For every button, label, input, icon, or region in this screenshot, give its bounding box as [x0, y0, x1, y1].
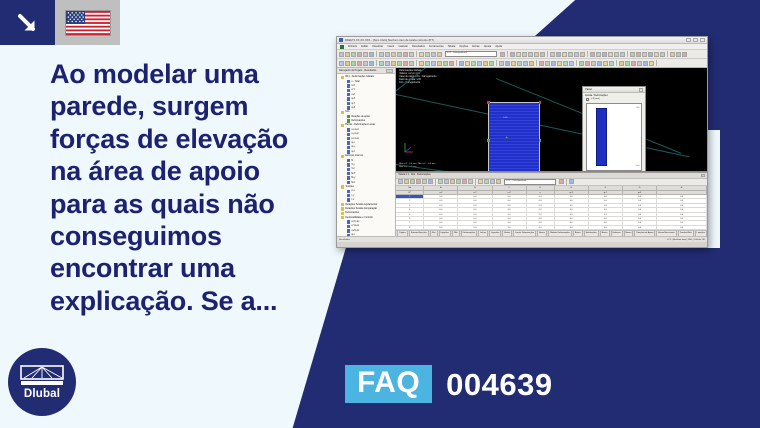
toolbar-button[interactable]	[590, 52, 595, 57]
menu-item-calcular[interactable]: Calcular	[398, 45, 408, 48]
toolbar-separator	[566, 179, 567, 185]
table-cell[interactable]: 0.0	[623, 213, 657, 216]
table-cell[interactable]: 4	[396, 208, 424, 211]
toolbar-button[interactable]	[563, 61, 568, 66]
toolbar-button[interactable]	[580, 52, 585, 57]
toolbar-button[interactable]	[419, 61, 424, 66]
table-tab[interactable]: Dígitos	[397, 230, 407, 236]
menu-item-tabela[interactable]: Tabela	[448, 45, 456, 48]
toolbar-button[interactable]	[416, 179, 421, 184]
menu-logo-icon	[340, 45, 344, 49]
toolbar-button[interactable]	[468, 179, 473, 184]
toolbar-button[interactable]	[556, 52, 561, 57]
navigator-tree-item-label: Relações Tensão-Comparação	[345, 208, 377, 210]
toolbar-button[interactable]	[385, 61, 390, 66]
toolbar-button[interactable]	[428, 179, 433, 184]
table-cell[interactable]: 0.0	[424, 226, 458, 229]
table-cell[interactable]: 0.0	[458, 199, 492, 202]
toolbar-button[interactable]	[489, 61, 494, 66]
navigator-tree-item-label: Deformações	[345, 212, 359, 214]
toolbar-button[interactable]	[579, 61, 584, 66]
table-cell[interactable]: 0.0	[589, 213, 623, 216]
toolbar-button[interactable]	[345, 52, 350, 57]
toolbar-button[interactable]	[419, 52, 424, 57]
menu-item-resultados[interactable]: Resultados	[412, 45, 425, 48]
menu-item-extras[interactable]: Extras	[472, 45, 479, 48]
node-icon	[347, 119, 350, 122]
toolbar-button[interactable]	[529, 61, 534, 66]
toolbar-button[interactable]	[444, 179, 449, 184]
toolbar-button[interactable]	[409, 61, 414, 66]
table-cell[interactable]: 0.0	[589, 221, 623, 224]
toolbar-button[interactable]	[397, 52, 402, 57]
toolbar-button[interactable]	[539, 61, 544, 66]
toolbar-button[interactable]	[620, 52, 625, 57]
project-navigator[interactable]: Navegador do Projeto - Resultados RF1 - …	[337, 68, 396, 236]
toolbar-button[interactable]	[369, 61, 374, 66]
toolbar-separator	[536, 60, 537, 66]
navigator-tree-item-label: u-Z	[351, 94, 354, 96]
table-tab[interactable]: Sistema/Secções	[409, 230, 429, 236]
table-cell[interactable]: 0.0	[424, 204, 458, 207]
table-tab[interactable]: Nós	[452, 230, 460, 236]
table-cell[interactable]: 0.0	[424, 199, 458, 202]
toolbar-button[interactable]	[676, 52, 681, 57]
table-tab[interactable]: Bases	[600, 230, 610, 236]
toolbar-button[interactable]	[403, 61, 408, 66]
menu-item-editar[interactable]: Editar	[361, 45, 368, 48]
table-cell[interactable]: 0.0	[458, 213, 492, 216]
toolbar-button[interactable]	[596, 52, 601, 57]
toolbar-load-case-combo[interactable]: LC1 - Carregamento	[445, 51, 497, 57]
menu-item-ferramentas[interactable]: Ferramentas	[429, 45, 444, 48]
result-icon	[347, 93, 350, 96]
navigator-tree-item-label: V-z	[351, 168, 354, 170]
table-tab[interactable]: Globais Deformações	[548, 230, 572, 236]
table-cell[interactable]: 0.0	[493, 195, 527, 198]
table-tab[interactable]: Bases	[537, 230, 547, 236]
table-cell[interactable]: 0.0	[657, 213, 707, 216]
table-subheader-cell: u-Y	[458, 191, 492, 195]
toolbar-button[interactable]	[523, 61, 528, 66]
table-cell[interactable]: 0.0	[527, 204, 555, 207]
folder-icon	[341, 76, 344, 79]
toolbar-button[interactable]	[437, 61, 442, 66]
table-cell[interactable]: 0.0	[458, 221, 492, 224]
table-cell[interactable]: 0.0	[458, 217, 492, 220]
toolbar-button[interactable]	[449, 61, 454, 66]
table-column-header[interactable]: E	[555, 186, 589, 190]
toolbar-button[interactable]	[516, 52, 521, 57]
table-column-header[interactable]: Nó	[396, 186, 424, 190]
table-cell[interactable]: 0.0	[589, 226, 623, 229]
toolbar-button[interactable]	[609, 61, 614, 66]
toolbar-button[interactable]	[403, 52, 408, 57]
results-table-pane[interactable]: Tabela 4.1 - Nós - Deformações LC1 - Car…	[396, 172, 707, 236]
toolbar-button[interactable]	[648, 52, 653, 57]
us-flag-icon[interactable]	[55, 0, 120, 45]
table-cell[interactable]: 8	[396, 226, 424, 229]
navigator-tree-item-label: Barras - Deformações Locais	[345, 124, 375, 126]
model-viewport[interactable]: Deformações Globais Valores: u-Z em mm C…	[396, 68, 707, 172]
dlubal-frame-icon	[20, 365, 64, 387]
toolbar-button[interactable]	[562, 52, 567, 57]
table-cell[interactable]: 0.0	[458, 208, 492, 211]
main-toolbar[interactable]: LC1 - Carregamento	[337, 50, 707, 59]
toolbar-button[interactable]	[642, 52, 647, 57]
navigator-tree-item-label: u-X,Loc	[351, 221, 359, 223]
toolbar-load-case-combo[interactable]: LC1 - Carregamento	[504, 179, 556, 185]
surface-label: 0.00	[503, 117, 507, 119]
table-cell[interactable]: 0.0	[657, 199, 707, 202]
table-column-header[interactable]: C	[493, 186, 527, 190]
table-tab[interactable]: Ligações	[695, 230, 707, 236]
table-cell[interactable]: 0.0	[623, 204, 657, 207]
navigator-tree-item-label: u-Y	[351, 89, 355, 91]
table-cell[interactable]: 0.0	[555, 204, 589, 207]
toolbar-button[interactable]	[438, 179, 443, 184]
toolbar-separator	[416, 60, 417, 66]
toolbar-button[interactable]	[385, 52, 390, 57]
toolbar-button[interactable]	[574, 52, 579, 57]
table-cell[interactable]: 0.0	[555, 199, 589, 202]
table-cell[interactable]: 0.0	[623, 199, 657, 202]
table-cell[interactable]: 0.0	[493, 208, 527, 211]
table-column-header[interactable]: H	[657, 186, 707, 190]
toolbar-button[interactable]	[379, 52, 384, 57]
table-cell[interactable]: 0.0	[589, 204, 623, 207]
toolbar-button[interactable]	[425, 52, 430, 57]
wall-surface-mesh: 1 0.00	[488, 102, 540, 172]
checkbox-icon[interactable]	[586, 98, 589, 101]
table-cell[interactable]: 0.0	[589, 195, 623, 198]
table-cell[interactable]: 0.0	[623, 221, 657, 224]
table-cell[interactable]: 0.0	[493, 217, 527, 220]
toolbar-button[interactable]	[409, 52, 414, 57]
folder-icon	[341, 207, 344, 210]
table-cell[interactable]: 0.0	[458, 204, 492, 207]
toolbar-button[interactable]	[490, 179, 495, 184]
table-tab[interactable]: Bases	[573, 230, 583, 236]
toolbar-button[interactable]	[391, 52, 396, 57]
table-cell[interactable]: 5	[396, 213, 424, 216]
toolbar-button[interactable]	[511, 61, 516, 66]
top-icon-bar	[0, 0, 120, 45]
toolbar-button[interactable]	[630, 52, 635, 57]
toolbar-button[interactable]	[602, 52, 607, 57]
toolbar-button[interactable]	[569, 179, 574, 184]
toolbar-button[interactable]	[345, 61, 350, 66]
table-cell[interactable]: 0.0	[589, 208, 623, 211]
toolbar-button[interactable]	[431, 52, 436, 57]
app-title-bar: RFEM 5.XX.XX.XXX - [Sem título] Nenhum i…	[337, 37, 707, 44]
toolbar-button[interactable]	[522, 52, 527, 57]
table-tab[interactable]: Solicitações	[584, 230, 599, 236]
toolbar-button[interactable]	[637, 61, 642, 66]
navigator-title: Navegador do Projeto - Resultados	[337, 68, 395, 74]
table-cell[interactable]: 0.0	[493, 204, 527, 207]
table-tab[interactable]: Ligações	[439, 230, 451, 236]
table-column-header[interactable]: F	[589, 186, 623, 190]
close-button[interactable]	[700, 38, 705, 42]
table-subheader-cell: u	[527, 191, 555, 195]
toolbar-button[interactable]	[465, 61, 470, 66]
toolbar-button[interactable]	[569, 61, 574, 66]
toolbar-button[interactable]	[462, 179, 467, 184]
toolbar-button[interactable]	[484, 179, 489, 184]
toolbar-button[interactable]	[682, 52, 687, 57]
table-toolbar[interactable]: LC1 - Carregamento	[396, 179, 707, 187]
toolbar-button[interactable]	[528, 52, 533, 57]
table-column-header[interactable]: D	[527, 186, 555, 190]
toolbar-button[interactable]	[550, 52, 555, 57]
toolbar-button[interactable]	[670, 52, 675, 57]
table-cell[interactable]: 0.0	[424, 195, 458, 198]
toolbar-button[interactable]	[363, 61, 368, 66]
table-tab[interactable]: Bases	[502, 230, 512, 236]
table-cell[interactable]: 0.0	[424, 213, 458, 216]
toolbar-button[interactable]	[483, 61, 488, 66]
toolbar-button[interactable]	[636, 52, 641, 57]
toolbar-button[interactable]	[608, 52, 613, 57]
table-cell[interactable]: 0.0	[657, 208, 707, 211]
dialog-close-icon[interactable]	[639, 88, 643, 91]
toolbar-button[interactable]	[351, 52, 356, 57]
toolbar-button[interactable]	[351, 61, 356, 66]
toolbar-button[interactable]	[614, 52, 619, 57]
toolbar-button[interactable]	[619, 61, 624, 66]
minimize-button[interactable]	[686, 38, 691, 42]
toolbar-button[interactable]	[379, 61, 384, 66]
table-tab[interactable]: Nós	[430, 230, 438, 236]
toolbar-button[interactable]	[431, 61, 436, 66]
folder-icon	[341, 203, 344, 206]
table-cell[interactable]: 1	[396, 195, 424, 198]
navigator-tree-item-label: τ-z	[351, 199, 354, 201]
result-icon	[347, 137, 350, 140]
table-cell[interactable]: 0.0	[424, 221, 458, 224]
node-icon	[347, 115, 350, 118]
table-cell[interactable]: 0.0	[493, 226, 527, 229]
toolbar-button[interactable]	[654, 52, 659, 57]
scale-max-label: 0.0	[636, 107, 639, 109]
toolbar-button[interactable]	[443, 61, 448, 66]
toolbar-button[interactable]	[477, 61, 482, 66]
table-cell[interactable]: 0.0	[458, 226, 492, 229]
table-cell[interactable]: 0.0	[623, 195, 657, 198]
dlubal-logo[interactable]: Dlubal	[8, 348, 76, 416]
toolbar-button[interactable]	[437, 52, 442, 57]
toolbar-button[interactable]	[357, 52, 362, 57]
arrow-down-right-icon[interactable]	[0, 0, 55, 45]
table-tab[interactable]: Linhas	[478, 230, 488, 236]
toolbar-button[interactable]	[557, 61, 562, 66]
menu-item-visualizar[interactable]: Visualizar	[372, 45, 383, 48]
toolbar-button[interactable]	[404, 179, 409, 184]
toolbar-button[interactable]	[649, 61, 654, 66]
toolbar-button[interactable]	[591, 61, 596, 66]
toolbar-separator	[456, 60, 457, 66]
toolbar-button[interactable]	[559, 179, 564, 184]
toolbar-button[interactable]	[500, 52, 505, 57]
menu-item-ficheiro[interactable]: Ficheiro	[348, 45, 357, 48]
table-cell[interactable]: 0.0	[527, 226, 555, 229]
results-panel-dialog[interactable]: Painel Escala / Deformações u-Z [mm] 0.0…	[582, 86, 646, 172]
menu-item-janela[interactable]: Janela	[484, 45, 492, 48]
table-tab[interactable]: Reações de Apoio	[634, 230, 655, 236]
toolbar-separator	[656, 60, 657, 66]
toolbar-button[interactable]	[422, 179, 427, 184]
table-cell[interactable]: 3	[396, 204, 424, 207]
result-icon	[347, 84, 350, 87]
table-tab[interactable]: Ligações	[489, 230, 501, 236]
table-tab[interactable]: Tensões/Nós	[678, 230, 694, 236]
toolbar-button[interactable]	[369, 52, 374, 57]
toolbar-button[interactable]	[505, 61, 510, 66]
result-icon	[347, 225, 350, 228]
toolbar-button[interactable]	[339, 52, 344, 57]
table-subheader-cell: φ-X	[555, 191, 589, 195]
table-cell[interactable]: 0.0	[657, 217, 707, 220]
toolbar-button[interactable]	[363, 52, 368, 57]
table-cell[interactable]: 0.0	[424, 217, 458, 220]
toolbar-button[interactable]	[510, 52, 515, 57]
table-grid[interactable]: NóABCDEFGHNºu-Xu-Yu-Zuφ-Xφ-Yφ-Z10.00.00.…	[396, 186, 707, 230]
toolbar-button[interactable]	[450, 179, 455, 184]
toolbar-button[interactable]	[496, 179, 501, 184]
table-close-icon[interactable]	[701, 174, 705, 177]
toolbar-button[interactable]	[456, 179, 461, 184]
table-cell[interactable]: 0.0	[623, 208, 657, 211]
toolbar-button[interactable]	[478, 179, 483, 184]
result-icon	[347, 128, 350, 131]
toolbar-button[interactable]	[545, 61, 550, 66]
navigator-tree[interactable]: RF1 - Deformações Globaisu - Totalu-Xu-Y…	[337, 74, 395, 236]
table-tab[interactable]: Bases/Seccionais	[656, 230, 676, 236]
table-cell[interactable]: 0.0	[657, 226, 707, 229]
corner-node	[539, 101, 542, 104]
toolbar-button[interactable]	[643, 61, 648, 66]
result-icon	[347, 220, 350, 223]
toolbar-button[interactable]	[534, 52, 539, 57]
table-cell[interactable]: 0.0	[555, 217, 589, 220]
table-subheader-cell: Nº	[396, 191, 424, 195]
table-tab[interactable]: Bases	[624, 230, 634, 236]
table-cell[interactable]: 0.0	[555, 208, 589, 211]
table-cell[interactable]: 0.0	[589, 199, 623, 202]
scale-min-label: -0.0	[636, 165, 640, 167]
table-cell[interactable]: 0.0	[555, 226, 589, 229]
toolbar-button[interactable]	[551, 61, 556, 66]
navigator-tree-item-label: M-y	[351, 177, 355, 179]
result-icon	[347, 150, 350, 153]
toolbar-button[interactable]	[499, 61, 504, 66]
table-cell[interactable]: 0.0	[527, 195, 555, 198]
toolbar-button[interactable]	[391, 61, 396, 66]
toolbar-button[interactable]	[568, 52, 573, 57]
table-column-header[interactable]: A	[424, 186, 458, 190]
table-cell[interactable]: 2	[396, 199, 424, 202]
menu-item-opcoes[interactable]: Opções	[459, 45, 468, 48]
folder-icon	[341, 212, 344, 215]
table-cell[interactable]: 0.0	[527, 199, 555, 202]
toolbar-button[interactable]	[625, 61, 630, 66]
menu-item-ajuda[interactable]: Ajuda	[495, 45, 502, 48]
toolbar-button[interactable]	[397, 61, 402, 66]
table-cell[interactable]: 0.0	[623, 217, 657, 220]
toolbar-button[interactable]	[459, 61, 464, 66]
toolbar-button[interactable]	[631, 61, 636, 66]
table-cell[interactable]: 0.0	[527, 208, 555, 211]
table-tab[interactable]: Esforços	[611, 230, 623, 236]
table-cell[interactable]: 0.0	[527, 221, 555, 224]
navigator-tree-item-label: u - Total	[351, 81, 359, 83]
table-cell[interactable]: 0.0	[589, 217, 623, 220]
table-tab[interactable]: Deformações	[461, 230, 477, 236]
toolbar-button[interactable]	[339, 61, 344, 66]
menu-item-inserir[interactable]: Inserir	[387, 45, 394, 48]
toolbar-button[interactable]	[540, 52, 545, 57]
toolbar-button[interactable]	[410, 179, 415, 184]
navigator-tree-item-label: Relações Tensão-regulamentar	[345, 204, 377, 206]
toolbar-button[interactable]	[471, 61, 476, 66]
toolbar-button[interactable]	[398, 179, 403, 184]
table-cell[interactable]: 0.0	[555, 213, 589, 216]
toolbar-button[interactable]	[585, 61, 590, 66]
dialog-value-checkbox[interactable]: u-Z [mm]	[583, 97, 645, 102]
result-icon	[347, 133, 350, 136]
table-column-header[interactable]: B	[458, 186, 492, 190]
table-cell[interactable]: 0.0	[555, 221, 589, 224]
table-cell[interactable]: 0.0	[657, 204, 707, 207]
toolbar-button[interactable]	[597, 61, 602, 66]
window-controls[interactable]	[686, 38, 705, 42]
rfem-application-screenshot: RFEM 5.XX.XX.XXX - [Sem título] Nenhum i…	[336, 36, 708, 248]
table-cell[interactable]: 6	[396, 217, 424, 220]
table-cell[interactable]: 0.0	[657, 195, 707, 198]
navigator-tree-item-label: u-y,Loc	[351, 133, 358, 135]
table-tab[interactable]: Locais Deformações	[513, 230, 536, 236]
table-cell[interactable]: 0.0	[527, 217, 555, 220]
table-tabs[interactable]: DígitosSistema/SecçõesNósLigaçõesNósDefo…	[396, 230, 707, 236]
toolbar-separator	[587, 51, 588, 57]
navigator-close-icon[interactable]	[386, 69, 393, 73]
result-icon	[347, 234, 350, 236]
maximize-button[interactable]	[693, 38, 698, 42]
table-subheader-cell	[657, 191, 707, 195]
table-cell[interactable]: 7	[396, 221, 424, 224]
table-cell[interactable]: 0.0	[458, 195, 492, 198]
toolbar-button[interactable]	[660, 52, 665, 57]
navigator-tree-item-label: Reações de apoio	[351, 116, 370, 118]
navigator-tree-item[interactable]: φ-x	[339, 233, 395, 236]
table-cell[interactable]: 0.0	[493, 221, 527, 224]
table-cell[interactable]: 0.0	[657, 221, 707, 224]
table-cell[interactable]: 0.0	[623, 226, 657, 229]
toolbar-button[interactable]	[517, 61, 522, 66]
table-cell[interactable]: 0.0	[493, 199, 527, 202]
table-cell[interactable]: 0.0	[424, 208, 458, 211]
secondary-toolbar[interactable]	[337, 59, 707, 68]
table-cell[interactable]: 0.0	[493, 213, 527, 216]
folder-icon	[341, 185, 344, 188]
toolbar-button[interactable]	[603, 61, 608, 66]
table-cell[interactable]: 0.0	[555, 195, 589, 198]
table-column-header[interactable]: G	[623, 186, 657, 190]
table-cell[interactable]: 0.0	[527, 213, 555, 216]
toolbar-button[interactable]	[357, 61, 362, 66]
toolbar-button[interactable]	[425, 61, 430, 66]
